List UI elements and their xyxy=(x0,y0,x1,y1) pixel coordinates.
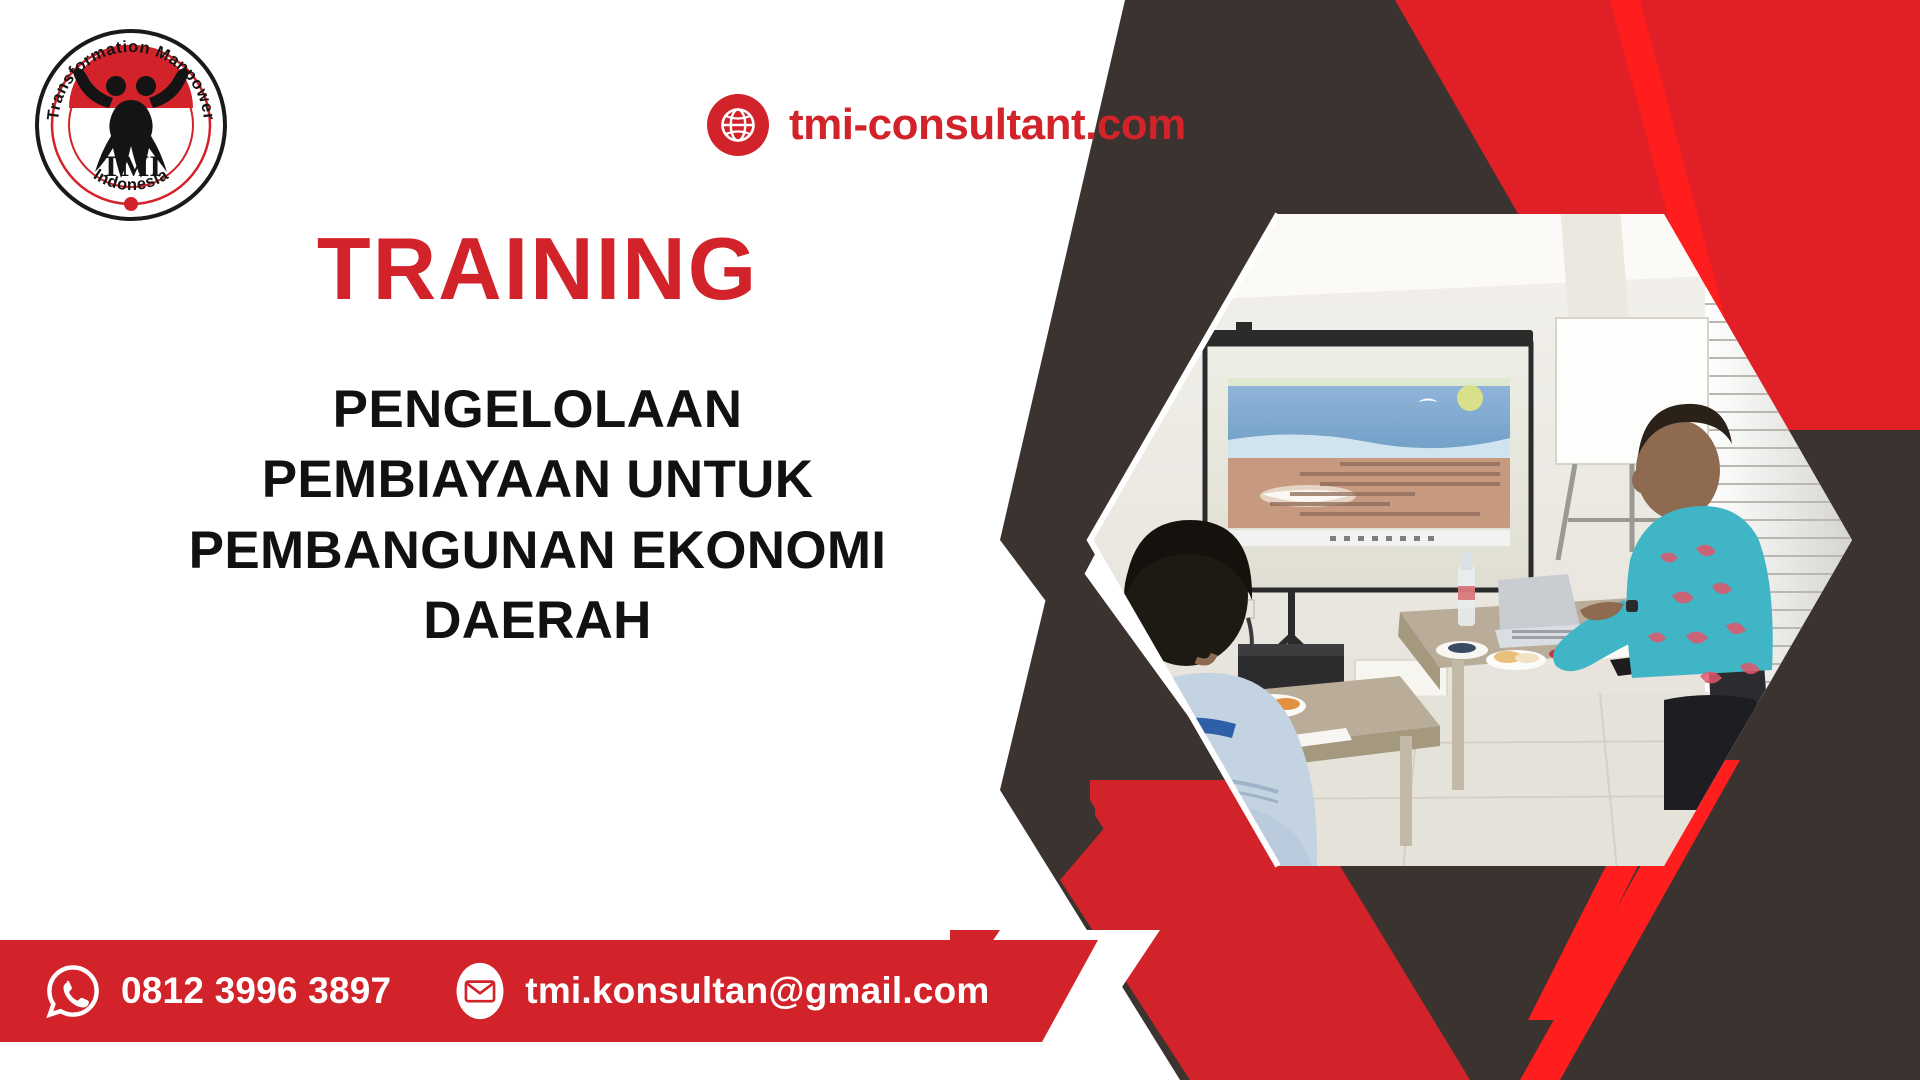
contact-whatsapp[interactable]: 0812 3996 3897 xyxy=(45,963,391,1019)
tmi-logo: TMI Transformation Manpower Indonesia xyxy=(30,24,232,226)
globe-icon xyxy=(707,94,769,156)
whatsapp-number: 0812 3996 3897 xyxy=(121,970,391,1012)
poster-canvas: TMI Transformation Manpower Indonesia tm… xyxy=(0,0,1920,1080)
title-line: DAERAH xyxy=(60,586,1015,656)
title-line: PEMBANGUNAN EKONOMI xyxy=(60,516,1015,586)
page-title: PENGELOLAAN PEMBIAYAAN UNTUK PEMBANGUNAN… xyxy=(60,375,1015,657)
contact-email[interactable]: tmi.konsultan@gmail.com xyxy=(455,961,989,1021)
email-address: tmi.konsultan@gmail.com xyxy=(525,970,989,1012)
website-url: tmi-consultant.com xyxy=(789,100,1186,150)
title-line: PENGELOLAAN xyxy=(60,375,1015,445)
headline-block: TRAINING PENGELOLAAN PEMBIAYAAN UNTUK PE… xyxy=(60,225,1015,657)
footer-contacts: 0812 3996 3897 tmi.konsultan@gmail.com xyxy=(0,940,990,1042)
email-icon xyxy=(455,961,505,1021)
website-link[interactable]: tmi-consultant.com xyxy=(707,94,1186,156)
whatsapp-icon xyxy=(45,963,101,1019)
eyebrow-training: TRAINING xyxy=(60,225,1015,313)
title-line: PEMBIAYAAN UNTUK xyxy=(60,445,1015,515)
